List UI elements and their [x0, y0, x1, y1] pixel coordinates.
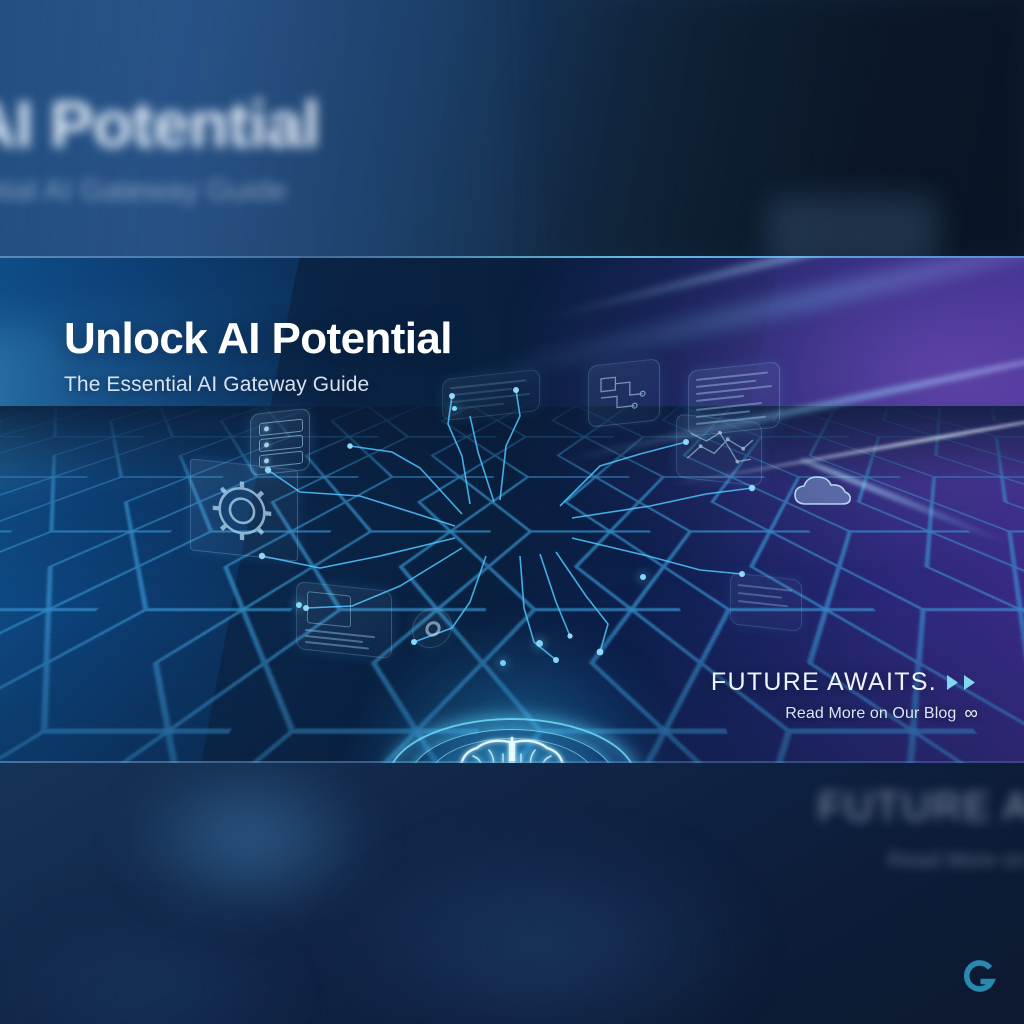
- bottom-band-glow-center: [330, 833, 760, 1024]
- top-band-title-blur: ck AI Potential: [0, 86, 319, 162]
- cloud-icon: [792, 472, 854, 517]
- bottom-blurred-preview-band: FUTURE AW Read More on O: [0, 763, 1024, 1024]
- floor-node: [452, 406, 457, 411]
- page-title: Unlock AI Potential: [64, 316, 452, 363]
- ai-brain-icon: [437, 728, 587, 763]
- floor-node: [640, 574, 646, 580]
- panel-data-card: [730, 572, 802, 632]
- panel-laptop-device: [296, 581, 392, 659]
- page-subtitle: The Essential AI Gateway Guide: [64, 373, 452, 397]
- headline-block: Unlock AI Potential The Essential AI Gat…: [64, 316, 452, 397]
- double-chevron-right-icon: [946, 674, 978, 691]
- main-banner: Unlock AI Potential The Essential AI Gat…: [0, 256, 1024, 763]
- g-logo-icon: [960, 957, 1000, 997]
- cta-link-row[interactable]: Read More on Our Blog ∞: [711, 704, 978, 723]
- top-band-glow-chip: [768, 196, 938, 256]
- banner-bottom-divider: [0, 761, 1024, 763]
- infinity-icon: ∞: [964, 704, 978, 723]
- cta-link-label[interactable]: Read More on Our Blog: [785, 705, 956, 723]
- banner-top-divider: [0, 256, 1024, 258]
- bottom-band-cta-blur: FUTURE AW: [818, 785, 1024, 830]
- top-band-subtitle-blur: e Essential AI Gateway Guide: [0, 174, 287, 208]
- bottom-band-glow-lower: [0, 913, 300, 1024]
- brand-watermark: [960, 957, 1000, 1002]
- panel-gear-cog: [190, 458, 298, 561]
- cta-block[interactable]: FUTURE AWAITS. Read More on Our Blog ∞: [711, 668, 978, 723]
- panel-network-map: [676, 413, 762, 486]
- bottom-band-sub-blur: Read More on O: [887, 847, 1024, 873]
- top-blurred-preview-band: ck AI Potential e Essential AI Gateway G…: [0, 0, 1024, 256]
- cta-headline: FUTURE AWAITS.: [711, 668, 937, 697]
- cta-headline-row: FUTURE AWAITS.: [711, 668, 978, 697]
- poster-canvas: ck AI Potential e Essential AI Gateway G…: [0, 0, 1024, 1024]
- floor-node: [296, 602, 302, 608]
- panel-circuit-board: [588, 358, 660, 428]
